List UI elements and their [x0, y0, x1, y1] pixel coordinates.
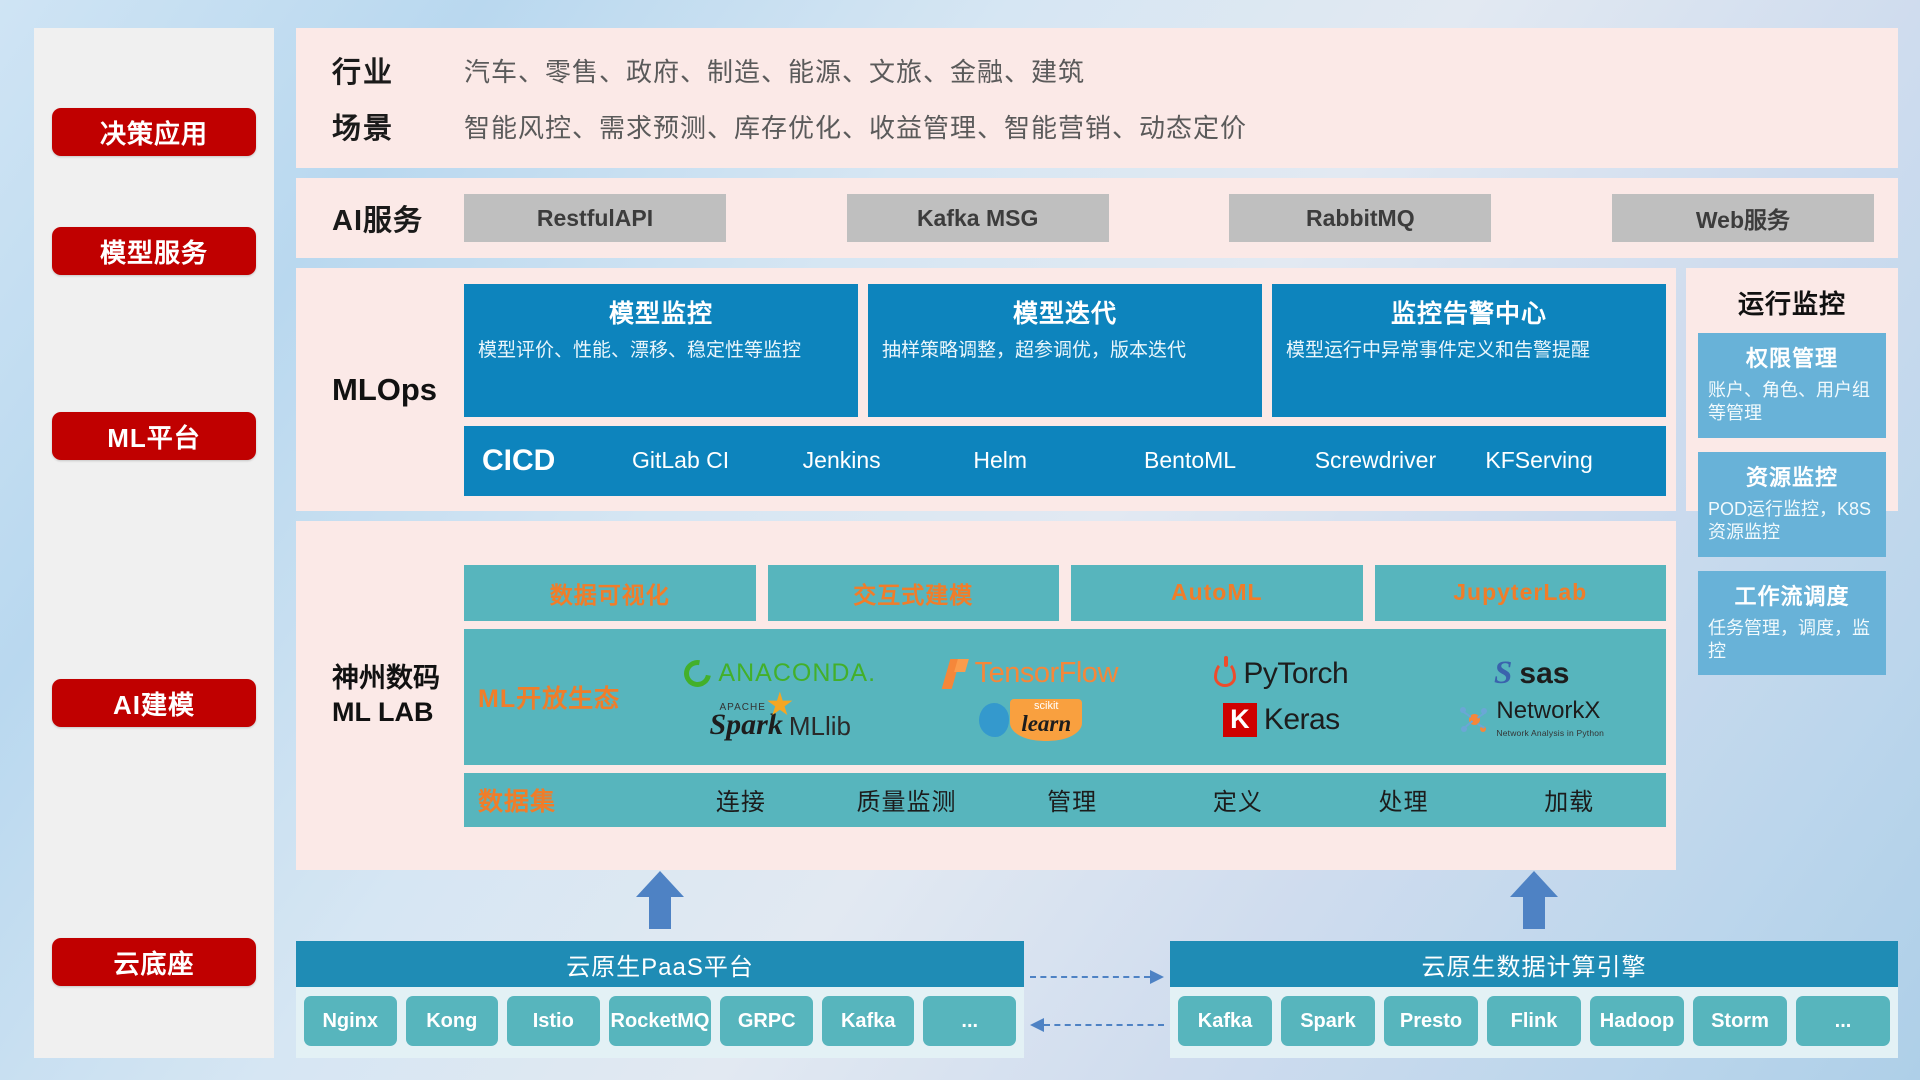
ml-ecosystem-label: ML开放生态 [478, 679, 658, 715]
dataset-row: 数据集 连接 质量监测 管理 定义 处理 加载 [464, 773, 1666, 827]
stage-pill-cloud-foundation[interactable]: 云底座 [52, 938, 256, 986]
spark-mllib-logo: APACHE Spark MLlib [710, 698, 852, 742]
lab-tool-automl[interactable]: AutoML [1071, 565, 1363, 621]
anaconda-logo: ANACONDA. [684, 659, 876, 688]
tool-label: 数据可视化 [550, 576, 670, 610]
engine-chip-list: Kafka Spark Presto Flink Hadoop Storm ..… [1170, 987, 1898, 1058]
card-title: 资源监控 [1708, 460, 1876, 492]
ml-ecosystem-row: ML开放生态 ANACONDA. TensorFlow [464, 629, 1666, 765]
ml-platform-band: MLOps 模型监控 模型评价、性能、漂移、稳定性等监控 模型迭代 抽样策略调整… [296, 268, 1898, 511]
scikit-learn-logo: scikit learn [979, 699, 1082, 741]
card-title: 权限管理 [1708, 341, 1876, 373]
chip-label: ... [1835, 1010, 1852, 1032]
engine-chip-presto[interactable]: Presto [1384, 996, 1478, 1046]
engine-chip-hadoop[interactable]: Hadoop [1590, 996, 1684, 1046]
chip-label: Spark [1300, 1010, 1356, 1032]
stage-label: 云底座 [113, 944, 194, 981]
mlops-card-model-monitoring[interactable]: 模型监控 模型评价、性能、漂移、稳定性等监控 [464, 284, 858, 417]
sas-logo: S sas [1494, 655, 1569, 692]
cicd-item-jenkins[interactable]: Jenkins [803, 446, 974, 475]
mllib-label: MLlib [789, 711, 851, 742]
networkx-logo: NetworkX Network Analysis in Python [1459, 699, 1604, 741]
mlops-label: MLOps [332, 372, 464, 408]
lab-tool-interactive-modeling[interactable]: 交互式建模 [768, 565, 1060, 621]
networkx-text-block: NetworkX Network Analysis in Python [1496, 699, 1604, 741]
architecture-diagram: 决策应用 模型服务 ML平台 AI建模 云底座 行业 汽车、零售、政府、制造、能… [0, 0, 1920, 1080]
chip-label: Kafka [841, 1010, 895, 1032]
card-title: 模型监控 [478, 294, 844, 330]
cicd-item-kfserving[interactable]: KFServing [1485, 446, 1656, 475]
dataset-item-manage[interactable]: 管理 [989, 782, 1155, 817]
chip-label: Web服务 [1696, 201, 1790, 235]
engine-chip-more[interactable]: ... [1796, 996, 1890, 1046]
chip-label: RocketMQ [611, 1010, 710, 1032]
ai-service-chip-web-service[interactable]: Web服务 [1612, 194, 1874, 242]
ai-service-band: AI服务 RestfulAPI Kafka MSG RabbitMQ Web服务 [296, 178, 1898, 258]
ai-service-items: RestfulAPI Kafka MSG RabbitMQ Web服务 [464, 194, 1874, 242]
spark-apache-label: APACHE [720, 702, 766, 713]
dataset-item-quality-monitor[interactable]: 质量监测 [824, 782, 990, 817]
stage-label: 模型服务 [100, 233, 208, 270]
chip-label: RestfulAPI [537, 205, 653, 232]
engine-chip-flink[interactable]: Flink [1487, 996, 1581, 1046]
engine-title: 云原生数据计算引擎 [1170, 941, 1898, 987]
paas-chip-grpc[interactable]: GRPC [720, 996, 813, 1046]
sas-s-icon: S [1494, 655, 1512, 692]
tensorflow-logo: TensorFlow [944, 657, 1118, 690]
cicd-title: CICD [482, 444, 632, 478]
networkx-sub-label: Network Analysis in Python [1496, 728, 1604, 738]
mlops-section: MLOps 模型监控 模型评价、性能、漂移、稳定性等监控 模型迭代 抽样策略调整… [296, 268, 1676, 511]
paas-chip-nginx[interactable]: Nginx [304, 996, 397, 1046]
ml-lab-label-line1: 神州数码 [332, 662, 464, 696]
paas-chip-rocketmq[interactable]: RocketMQ [609, 996, 712, 1046]
scikit-label: learn [1021, 711, 1071, 736]
chip-label: Hadoop [1600, 1010, 1674, 1032]
dataset-item-define[interactable]: 定义 [1155, 782, 1321, 817]
mlops-card-list: 模型监控 模型评价、性能、漂移、稳定性等监控 模型迭代 抽样策略调整，超参调优，… [464, 284, 1666, 417]
ml-lab-section: 神州数码 ML LAB 数据可视化 交互式建模 AutoML JupyterLa… [296, 521, 1676, 870]
lab-tool-jupyterlab[interactable]: JupyterLab [1375, 565, 1667, 621]
stage-pill-ai-modeling[interactable]: AI建模 [52, 679, 256, 727]
industry-value: 汽车、零售、政府、制造、能源、文旅、金融、建筑 [464, 52, 1085, 89]
scenario-row: 场景 智能风控、需求预测、库存优化、收益管理、智能营销、动态定价 [332, 105, 1898, 147]
paas-title: 云原生PaaS平台 [296, 941, 1024, 987]
engine-chip-kafka[interactable]: Kafka [1178, 996, 1272, 1046]
tensorflow-mark-icon [944, 659, 968, 689]
chip-label: Flink [1511, 1010, 1558, 1032]
dataset-item-process[interactable]: 处理 [1321, 782, 1487, 817]
ml-lab-label-line2: ML LAB [332, 696, 464, 730]
paas-group: 云原生PaaS平台 Nginx Kong Istio RocketMQ GRPC… [296, 941, 1024, 1058]
paas-chip-list: Nginx Kong Istio RocketMQ GRPC Kafka ... [296, 987, 1024, 1058]
chip-label: GRPC [738, 1010, 796, 1032]
ai-service-chip-restfulapi[interactable]: RestfulAPI [464, 194, 726, 242]
card-title: 监控告警中心 [1286, 294, 1652, 330]
runtime-monitoring-column: 运行监控 权限管理 账户、角色、用户组等管理 资源监控 POD运行监控，K8S资… [1686, 268, 1898, 511]
chip-label: Istio [533, 1010, 574, 1032]
lab-tool-data-visualization[interactable]: 数据可视化 [464, 565, 756, 621]
chip-label: Presto [1400, 1010, 1462, 1032]
cicd-item-bentoml[interactable]: BentoML [1144, 446, 1315, 475]
chip-label: Kong [426, 1010, 477, 1032]
chip-label: Nginx [322, 1010, 378, 1032]
paas-chip-istio[interactable]: Istio [507, 996, 600, 1046]
monitoring-title: 运行监控 [1698, 274, 1886, 333]
tensorflow-label: TensorFlow [975, 657, 1118, 690]
data-engine-group: 云原生数据计算引擎 Kafka Spark Presto Flink Hadoo… [1170, 941, 1898, 1058]
scenario-value: 智能风控、需求预测、库存优化、收益管理、智能营销、动态定价 [464, 108, 1247, 145]
card-desc: 抽样策略调整，超参调优，版本迭代 [882, 338, 1248, 363]
sas-label: sas [1519, 657, 1569, 691]
scenario-key: 场景 [332, 105, 464, 147]
stage-pill-model-service[interactable]: 模型服务 [52, 227, 256, 275]
cicd-bar: CICD GitLab CI Jenkins Helm BentoML Scre… [464, 426, 1666, 496]
paas-chip-more[interactable]: ... [923, 996, 1016, 1046]
ai-service-chip-rabbitmq[interactable]: RabbitMQ [1229, 194, 1491, 242]
pytorch-flame-icon [1214, 661, 1236, 687]
ai-modeling-band: 神州数码 ML LAB 数据可视化 交互式建模 AutoML JupyterLa… [296, 521, 1898, 870]
monitoring-card-permission[interactable]: 权限管理 账户、角色、用户组等管理 [1698, 333, 1886, 438]
tool-label: JupyterLab [1453, 579, 1587, 606]
dashed-arrow-right-icon [1030, 976, 1164, 978]
cloud-link-arrows [1024, 918, 1170, 1058]
card-desc: 模型评价、性能、漂移、稳定性等监控 [478, 338, 844, 363]
anaconda-label: ANACONDA. [718, 659, 876, 688]
chip-label: Kafka MSG [917, 205, 1038, 232]
mlops-body: 模型监控 模型评价、性能、漂移、稳定性等监控 模型迭代 抽样策略调整，超参调优，… [464, 284, 1666, 496]
keras-label: Keras [1264, 703, 1340, 737]
card-desc: 模型运行中异常事件定义和告警提醒 [1286, 338, 1652, 363]
stage-label: AI建模 [113, 685, 195, 722]
card-title: 模型迭代 [882, 294, 1248, 330]
networkx-label: NetworkX [1496, 697, 1600, 724]
ml-lab-body: 数据可视化 交互式建模 AutoML JupyterLab ML开放生态 ANA… [464, 565, 1666, 827]
dashed-arrow-left-icon [1030, 1024, 1164, 1026]
keras-logo: K Keras [1223, 703, 1340, 737]
chip-label: Kafka [1198, 1010, 1252, 1032]
diagram-content: 行业 汽车、零售、政府、制造、能源、文旅、金融、建筑 场景 智能风控、需求预测、… [296, 28, 1898, 1058]
chip-label: ... [961, 1010, 978, 1032]
cicd-item-screwdriver[interactable]: Screwdriver [1315, 446, 1486, 475]
pytorch-label: PyTorch [1243, 657, 1348, 691]
scikit-blob-icon [979, 703, 1009, 737]
mlops-card-model-iteration[interactable]: 模型迭代 抽样策略调整，超参调优，版本迭代 [868, 284, 1262, 417]
spark-wordmark: APACHE Spark [710, 698, 783, 742]
cicd-item-list: GitLab CI Jenkins Helm BentoML Screwdriv… [632, 446, 1656, 475]
mlops-card-alert-center[interactable]: 监控告警中心 模型运行中异常事件定义和告警提醒 [1272, 284, 1666, 417]
scikit-badge: scikit learn [1010, 699, 1082, 741]
stage-label: 决策应用 [100, 114, 208, 151]
chip-label: Storm [1711, 1010, 1769, 1032]
ai-service-label: AI服务 [332, 197, 464, 239]
engine-chip-storm[interactable]: Storm [1693, 996, 1787, 1046]
paas-chip-kafka[interactable]: Kafka [822, 996, 915, 1046]
dataset-label: 数据集 [478, 782, 658, 818]
chip-label: RabbitMQ [1306, 205, 1415, 232]
stage-pill-decision-app[interactable]: 决策应用 [52, 108, 256, 156]
dataset-item-load[interactable]: 加载 [1486, 782, 1652, 817]
cloud-foundation-band: 云原生PaaS平台 Nginx Kong Istio RocketMQ GRPC… [296, 880, 1898, 1058]
pytorch-logo: PyTorch [1214, 657, 1348, 691]
dataset-item-connect[interactable]: 连接 [658, 782, 824, 817]
lab-right-spacer [1686, 521, 1898, 870]
cicd-item-gitlab-ci[interactable]: GitLab CI [632, 446, 803, 475]
networkx-graph-icon [1459, 706, 1489, 734]
ml-lab-label: 神州数码 ML LAB [332, 662, 464, 730]
ml-ecosystem-logos: ANACONDA. TensorFlow PyTorch [658, 652, 1654, 742]
cicd-item-helm[interactable]: Helm [973, 446, 1144, 475]
ml-lab-tool-list: 数据可视化 交互式建模 AutoML JupyterLab [464, 565, 1666, 621]
keras-mark-icon: K [1223, 703, 1257, 737]
card-desc: 账户、角色、用户组等管理 [1708, 379, 1876, 426]
tool-label: AutoML [1171, 579, 1263, 606]
stage-pill-ml-platform[interactable]: ML平台 [52, 412, 256, 460]
ai-service-chip-kafka-msg[interactable]: Kafka MSG [847, 194, 1109, 242]
dataset-item-list: 连接 质量监测 管理 定义 处理 加载 [658, 782, 1652, 817]
industry-scenario-band: 行业 汽车、零售、政府、制造、能源、文旅、金融、建筑 场景 智能风控、需求预测、… [296, 28, 1898, 168]
anaconda-ring-icon [679, 655, 717, 693]
stage-rail: 决策应用 模型服务 ML平台 AI建模 云底座 [34, 28, 274, 1058]
stage-label: ML平台 [107, 418, 201, 455]
paas-chip-kong[interactable]: Kong [406, 996, 499, 1046]
industry-key: 行业 [332, 49, 464, 91]
industry-row: 行业 汽车、零售、政府、制造、能源、文旅、金融、建筑 [332, 49, 1898, 91]
tool-label: 交互式建模 [853, 576, 973, 610]
engine-chip-spark[interactable]: Spark [1281, 996, 1375, 1046]
